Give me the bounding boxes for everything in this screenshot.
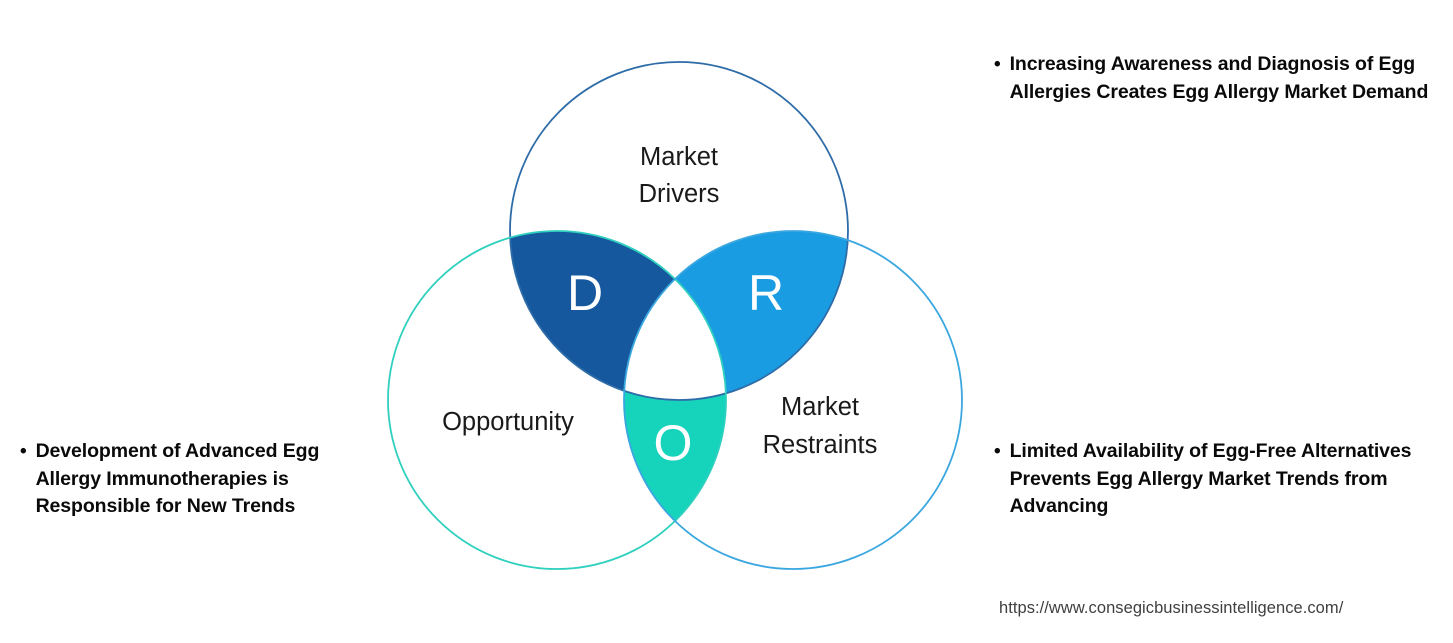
circle-label-market-restraints-line1: Market — [781, 393, 859, 421]
callout-market-restraints: • Limited Availability of Egg-Free Alter… — [994, 438, 1442, 521]
circle-label-market-drivers-line2: Drivers — [639, 180, 720, 208]
bullet-icon: • — [20, 438, 27, 466]
lens-letter-d: D — [567, 265, 603, 321]
bullet-icon: • — [994, 438, 1001, 466]
callout-opportunity: • Development of Advanced Egg Allergy Im… — [20, 438, 380, 521]
circle-label-market-restraints-line2: Restraints — [763, 431, 878, 459]
callout-market-drivers: • Increasing Awareness and Diagnosis of … — [994, 51, 1442, 106]
bullet-icon: • — [994, 51, 1001, 79]
venn-diagram-svg: Market Drivers Opportunity Market Restra… — [370, 40, 990, 600]
lens-letter-r: R — [748, 265, 784, 321]
lens-letter-o: O — [654, 415, 693, 471]
circle-label-market-drivers-line1: Market — [640, 143, 718, 171]
callout-market-restraints-text: Limited Availability of Egg-Free Alterna… — [1010, 438, 1442, 521]
callout-opportunity-text: Development of Advanced Egg Allergy Immu… — [36, 438, 380, 521]
callout-market-drivers-text: Increasing Awareness and Diagnosis of Eg… — [1010, 51, 1442, 106]
venn-diagram: Market Drivers Opportunity Market Restra… — [370, 40, 990, 600]
source-url[interactable]: https://www.consegicbusinessintelligence… — [999, 597, 1343, 619]
circle-label-opportunity: Opportunity — [442, 408, 574, 436]
